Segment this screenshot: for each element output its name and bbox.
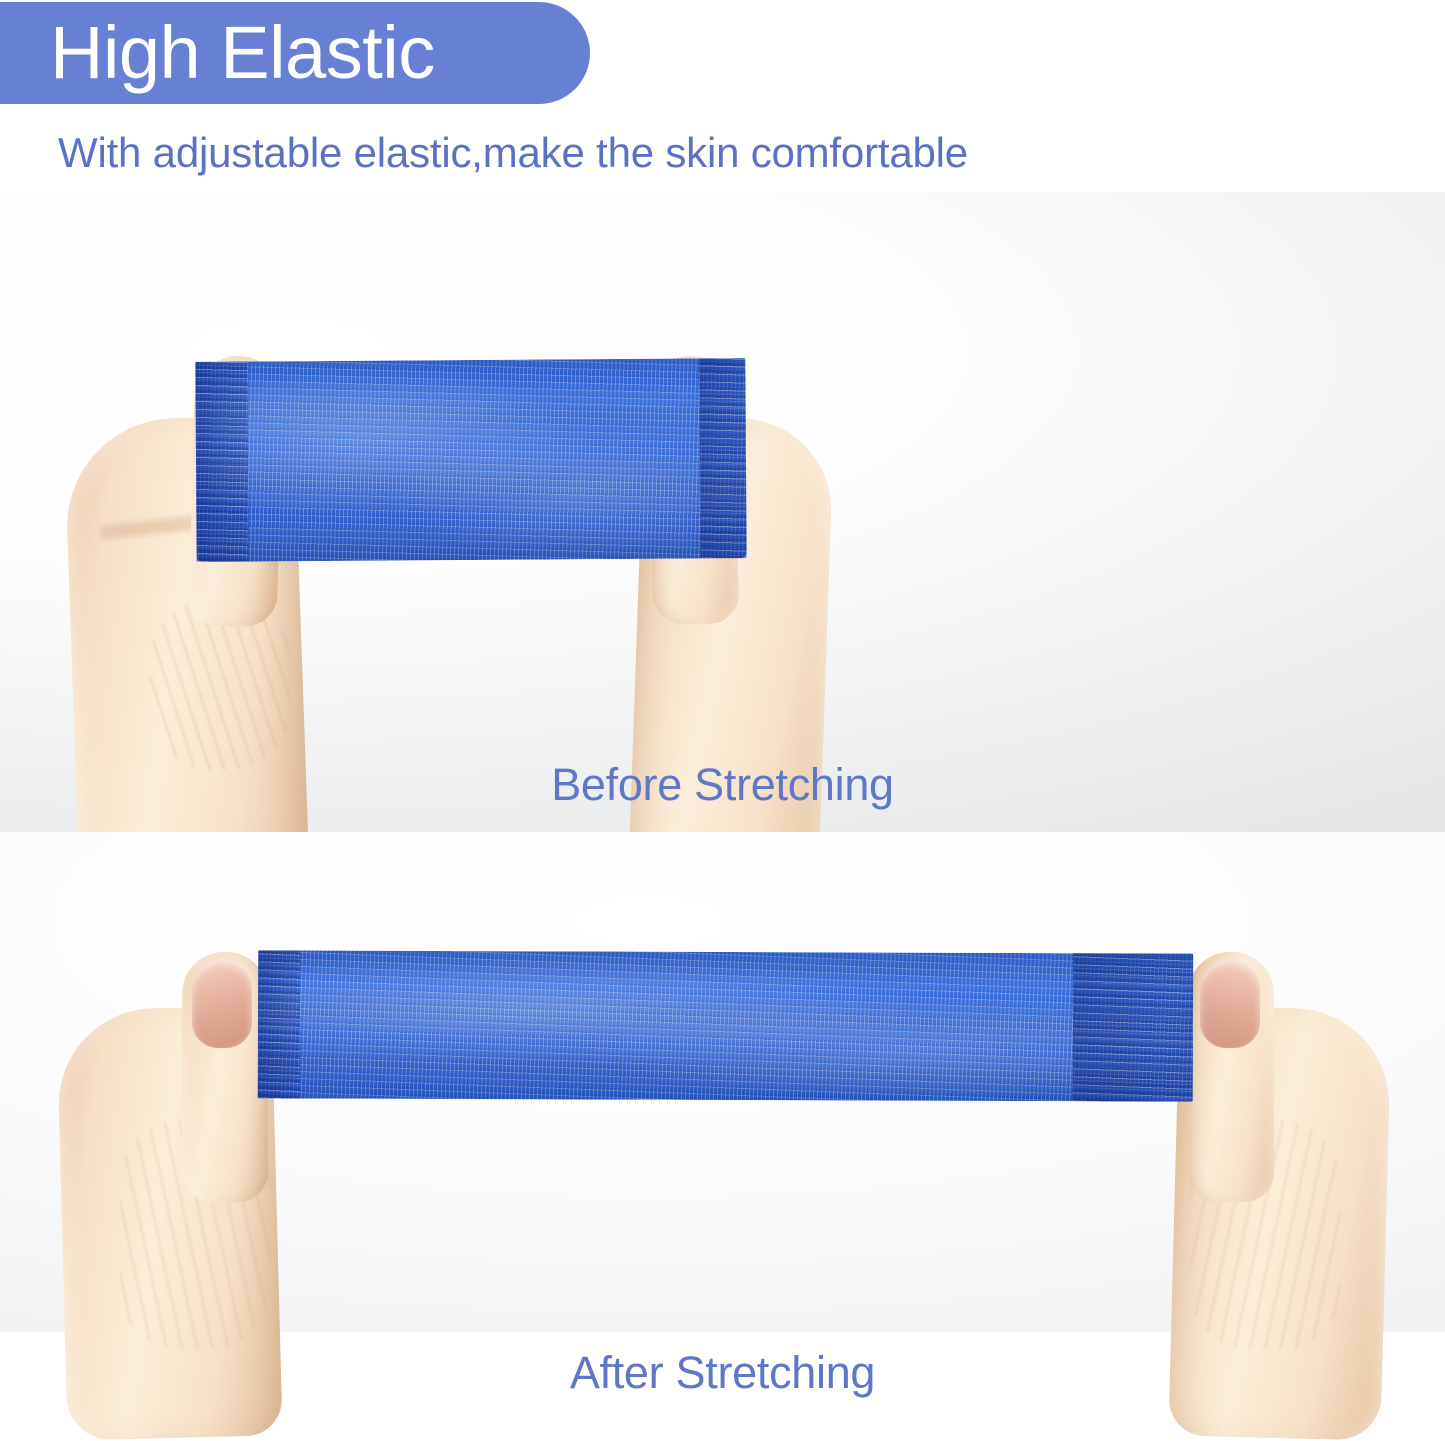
elastic-bandage-unstretched [195,358,746,562]
bandage-gripped-edge-left [195,362,248,562]
subtitle-text: With adjustable elastic,make the skin co… [58,130,968,176]
caption-before-stretching: Before Stretching [0,760,1445,810]
bandage-gripped-edge-left [258,950,301,1098]
header-banner: High Elastic With adjustable elastic,mak… [0,0,1445,192]
title-pill-badge: High Elastic [0,2,590,104]
right-thumbnail [1200,960,1260,1048]
elastic-bandage-stretched [258,950,1194,1101]
bandage-gripped-edge-right [699,358,746,558]
left-thumbnail [192,960,252,1048]
bandage-gripped-edge-right [1073,953,1194,1101]
page-title: High Elastic [50,16,435,90]
caption-after-stretching: After Stretching [0,1348,1445,1398]
